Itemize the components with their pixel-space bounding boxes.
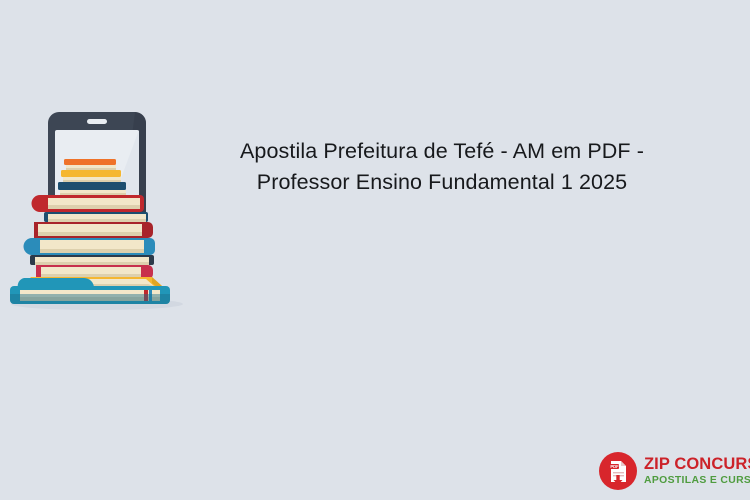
book-crimson (36, 265, 153, 279)
pdf-download-circle-icon: PDF (598, 451, 638, 491)
svg-text:PDF: PDF (610, 464, 619, 469)
brand-tagline: APOSTILAS E CURSOS (644, 476, 750, 486)
book-top-orange (64, 159, 116, 170)
book-darkred (34, 222, 153, 238)
book-teal-base (10, 286, 170, 304)
brand-wordmark: ZIP CONCURSOS APOSTILAS E CURSOS (644, 456, 750, 486)
book-red (32, 195, 145, 212)
promo-banner: Apostila Prefeitura de Tefé - AM em PDF … (0, 0, 750, 500)
book-navy-mid (44, 212, 148, 222)
book-teal-cover-flap (18, 278, 94, 288)
page-title: Apostila Prefeitura de Tefé - AM em PDF … (196, 136, 688, 198)
brand-name: ZIP CONCURSOS (644, 456, 750, 473)
brand-logo: PDF ZIP CONCURSOS APOSTILAS E CURSOS (598, 450, 740, 492)
book-slate (30, 255, 154, 265)
book-top-navy (58, 182, 126, 195)
page-title-text: Apostila Prefeitura de Tefé - AM em PDF … (196, 136, 688, 198)
book-blue (24, 238, 155, 255)
books-tablet-illustration (8, 108, 186, 313)
book-top-yellow (61, 170, 121, 182)
